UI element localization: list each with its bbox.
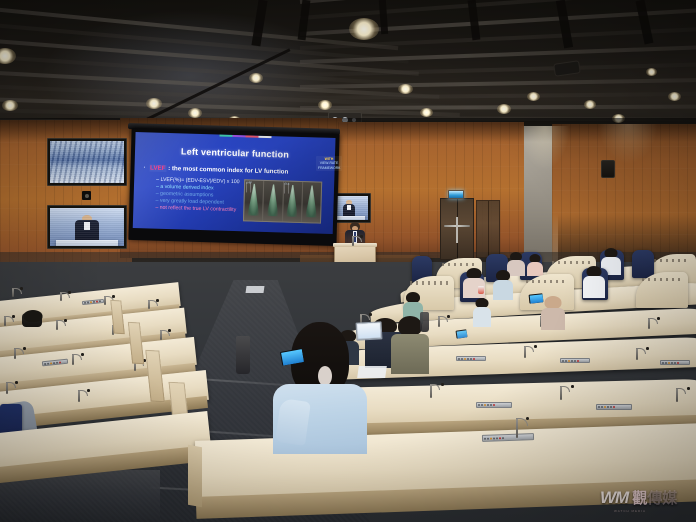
- smartphone[interactable]: [455, 329, 467, 338]
- water-bottle: [420, 312, 429, 332]
- desk-connector-plate[interactable]: [660, 360, 690, 365]
- desk-connector-plate[interactable]: [476, 402, 512, 408]
- side-door[interactable]: [476, 200, 500, 258]
- chair: [632, 250, 654, 278]
- desk-mic-icon: [676, 388, 690, 402]
- audience-member: [492, 270, 514, 298]
- audience-member: [22, 310, 44, 330]
- monitor-left-bottom: [47, 205, 127, 249]
- drink-cup: [478, 286, 484, 294]
- watermark-cjk-fade: 傳媒: [647, 489, 677, 507]
- desk-curve-panel: [636, 272, 688, 308]
- exit-sign: [448, 190, 464, 199]
- desk-connector-plate[interactable]: [560, 358, 590, 363]
- watermark: WM 觀傳媒 WATCH MEDIA: [600, 487, 677, 508]
- projection-screen: Left ventricular function · LVEF : the m…: [128, 128, 339, 246]
- paper-handout: [246, 286, 265, 293]
- desk-mic-icon: [60, 292, 69, 301]
- water-bottle: [236, 336, 250, 374]
- audience-member-filming: [540, 296, 566, 328]
- desk-mic-icon: [648, 318, 659, 329]
- smartphone[interactable]: [529, 293, 544, 303]
- paper-handout: [357, 366, 387, 378]
- auditorium-photo: Left ventricular function · LVEF : the m…: [0, 0, 696, 522]
- desk-mic-icon: [72, 354, 83, 365]
- desk-mic-icon: [6, 382, 18, 394]
- desk-connector-plate[interactable]: [596, 404, 632, 410]
- watermark-logo: WM: [600, 488, 628, 508]
- audience-member: [582, 266, 606, 296]
- monitor-left-top: [47, 138, 127, 186]
- watermark-cjk-lead: 觀: [632, 489, 647, 507]
- desk-mic-icon: [12, 288, 21, 297]
- ceiling-speaker-icon: [553, 60, 581, 76]
- ceiling: [0, 0, 696, 132]
- desk-mic-icon: [78, 390, 90, 402]
- desk-mic-icon: [636, 348, 648, 360]
- desk-connector-plate[interactable]: [456, 356, 486, 361]
- desk-mic-icon: [560, 386, 574, 400]
- desk-mic-icon: [4, 316, 14, 326]
- desk-mic-icon: [148, 300, 157, 309]
- camera-icon: [82, 191, 91, 200]
- podium-mic-icon: [352, 236, 362, 246]
- foreground-attendee: [272, 322, 368, 450]
- desk-mic-icon: [438, 316, 449, 327]
- exit-door[interactable]: [440, 198, 474, 260]
- desk-mic-icon: [430, 384, 444, 398]
- desk-mic-icon: [524, 346, 536, 358]
- audience-member: [526, 254, 544, 276]
- desk-mic-icon: [14, 348, 25, 359]
- audience-member: [472, 298, 492, 326]
- desk-mic-icon: [516, 418, 532, 438]
- banner-line-3: FRAMEWORK: [318, 166, 340, 170]
- watermark-subtitle: WATCH MEDIA: [614, 509, 646, 513]
- slide-corner-banner: WITH VIEW-RATE FRAMEWORK: [316, 156, 342, 171]
- wall-speaker-icon: [601, 160, 615, 178]
- desk-mic-icon: [56, 320, 66, 330]
